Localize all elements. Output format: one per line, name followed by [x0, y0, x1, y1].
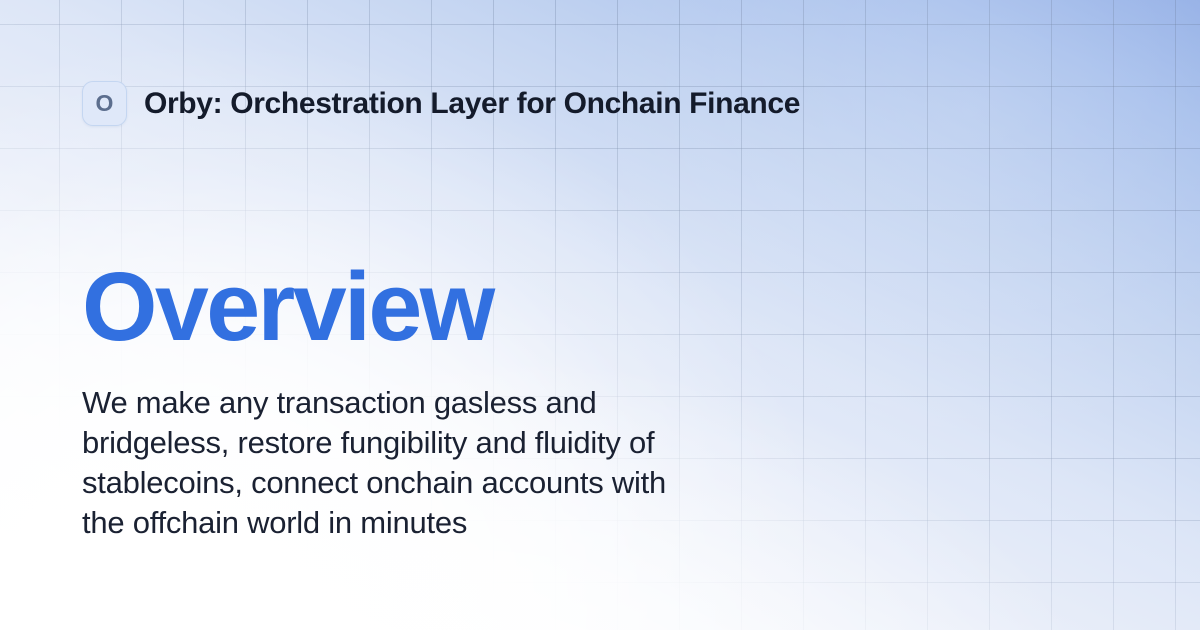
header: O Orby: Orchestration Layer for Onchain …	[82, 81, 800, 126]
content-layer: O Orby: Orchestration Layer for Onchain …	[0, 0, 1200, 630]
page-title: Orby: Orchestration Layer for Onchain Fi…	[144, 87, 800, 120]
hero-body-line: We make any transaction gasless and	[82, 383, 862, 423]
hero-body-line: bridgeless, restore fungibility and flui…	[82, 423, 862, 463]
orby-logo-icon: O	[82, 81, 127, 126]
logo-letter: O	[95, 92, 113, 115]
hero-heading: Overview	[82, 258, 882, 355]
slide-canvas: O Orby: Orchestration Layer for Onchain …	[0, 0, 1200, 630]
hero-body-line: stablecoins, connect onchain accounts wi…	[82, 463, 862, 503]
hero-section: Overview We make any transaction gasless…	[82, 258, 882, 543]
hero-body: We make any transaction gasless and brid…	[82, 355, 862, 543]
hero-body-line: the offchain world in minutes	[82, 503, 862, 543]
